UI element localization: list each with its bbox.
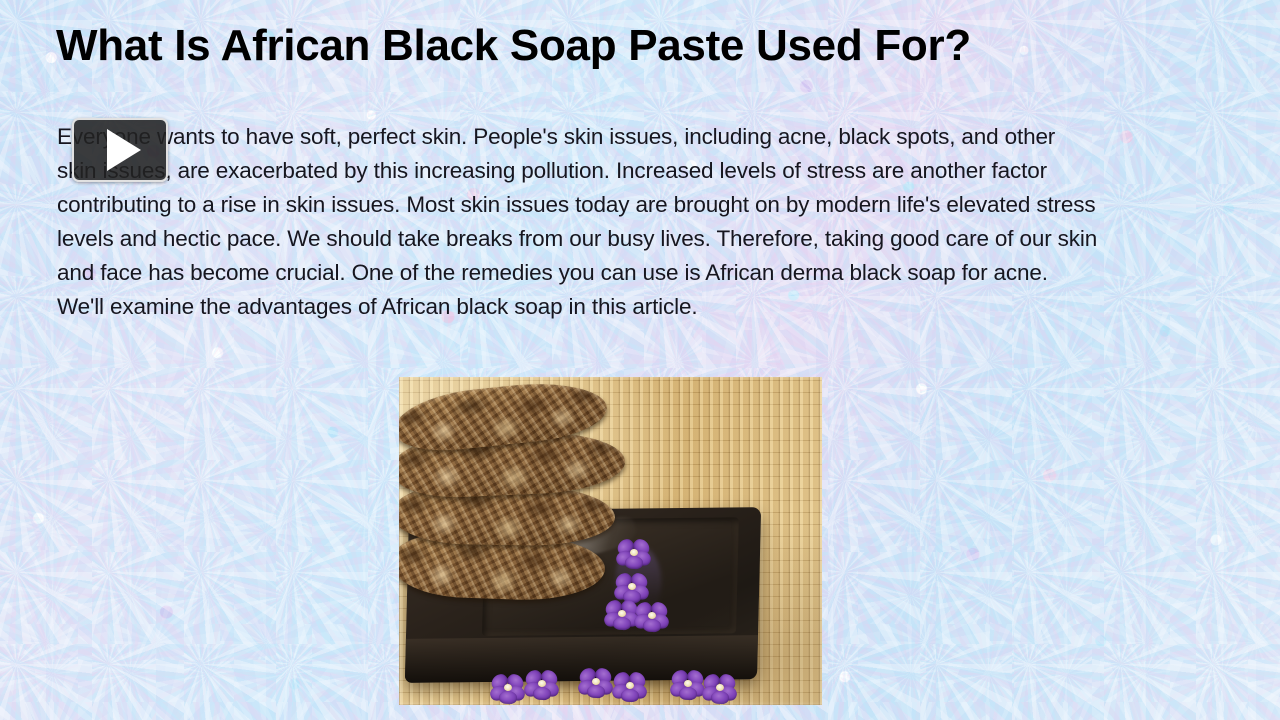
- soap-stack: [399, 385, 619, 617]
- violet-flower: [671, 669, 705, 699]
- body-line-2: skin issues, are exacerbated by this inc…: [57, 154, 1235, 188]
- violet-flower: [613, 671, 647, 701]
- violet-flower: [617, 538, 651, 568]
- body-line-3: contributing to a rise in skin issues. M…: [57, 188, 1235, 222]
- body-line-1: Everyone wants to have soft, perfect ski…: [57, 120, 1235, 154]
- video-play-button[interactable]: [72, 118, 168, 182]
- soap-photo: [399, 377, 822, 705]
- violet-flower: [525, 669, 559, 699]
- body-line-6: We'll examine the advantages of African …: [57, 290, 1235, 324]
- page-title: What Is African Black Soap Paste Used Fo…: [56, 20, 1226, 72]
- play-icon: [107, 129, 141, 171]
- body-paragraph: Everyone wants to have soft, perfect ski…: [57, 120, 1235, 324]
- body-line-5: and face has become crucial. One of the …: [57, 256, 1235, 290]
- body-line-4: levels and hectic pace. We should take b…: [57, 222, 1235, 256]
- violet-flower: [635, 601, 669, 631]
- violet-flower: [579, 667, 613, 697]
- violet-flower: [615, 572, 649, 602]
- violet-flower: [703, 673, 737, 703]
- violet-flower: [491, 673, 525, 703]
- slide-canvas: What Is African Black Soap Paste Used Fo…: [0, 0, 1280, 720]
